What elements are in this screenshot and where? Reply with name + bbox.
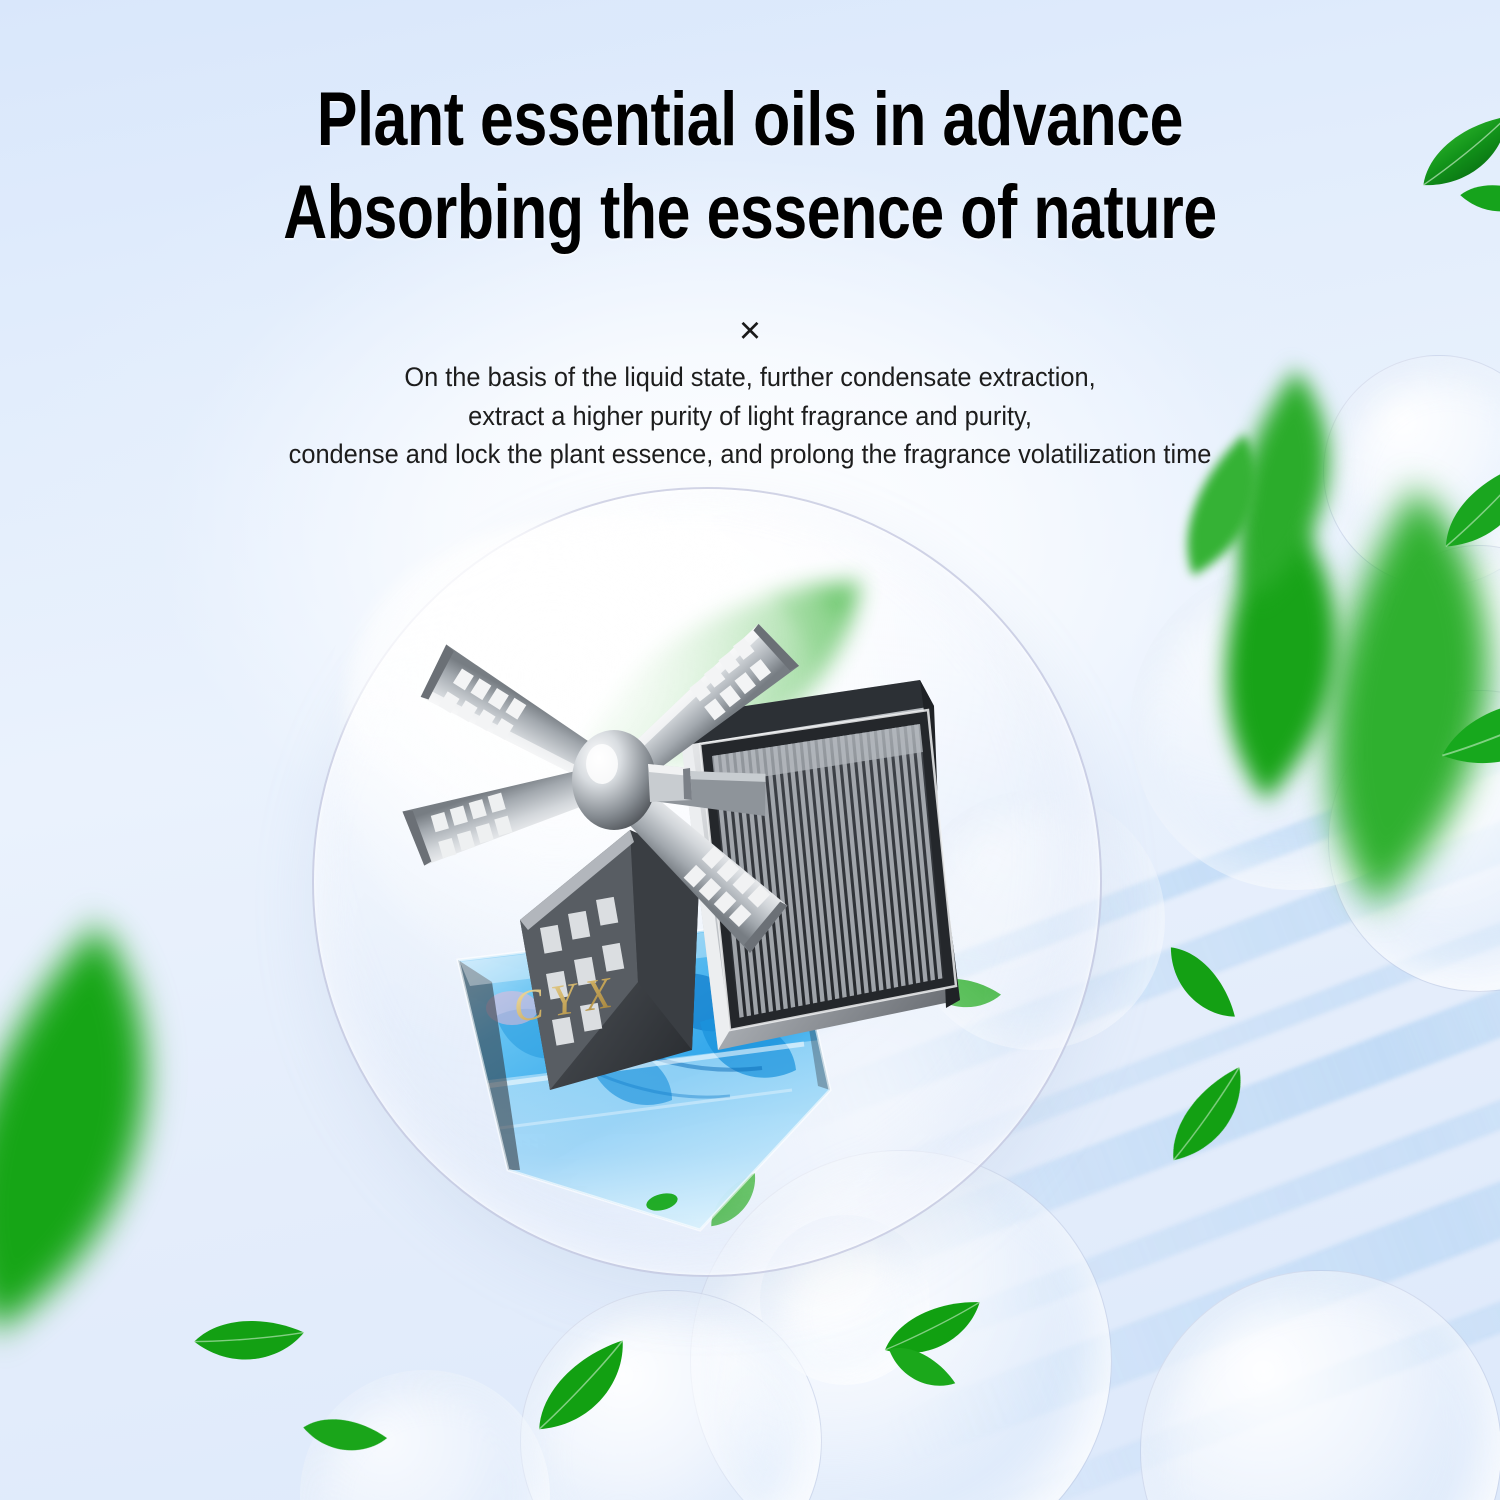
- leaf-icon: [186, 1305, 309, 1380]
- product-image: CYX: [400, 530, 1020, 1250]
- leaf-icon: [1145, 1058, 1274, 1180]
- leaf-icon: [295, 1400, 391, 1473]
- background-bubble: [1140, 1270, 1500, 1500]
- leaf-icon: [513, 1331, 654, 1451]
- leaf-icon: [874, 1294, 993, 1370]
- description-line-1: On the basis of the liquid state, furthe…: [45, 358, 1455, 397]
- leaf-icon: [1255, 473, 1500, 937]
- background-bubble: [1130, 560, 1460, 890]
- page-title: Plant essential oils in advance Absorbin…: [150, 74, 1350, 259]
- background-bubble: [1328, 690, 1500, 992]
- leaf-icon: [877, 1329, 960, 1409]
- divider-x-icon: ×: [0, 312, 1500, 350]
- leaf-icon: [1454, 170, 1500, 230]
- leaf-icon: [1405, 108, 1500, 204]
- windmill-diffuser-illustration: CYX: [400, 530, 1020, 1250]
- leaf-icon: [1431, 690, 1500, 784]
- headline-line-2: Absorbing the essence of nature: [150, 167, 1350, 260]
- product-banner: CYX Plant essential oils in advance Abso…: [0, 0, 1500, 1500]
- description-line-2: extract a higher purity of light fragran…: [45, 397, 1455, 436]
- background-bubble: [520, 1290, 822, 1500]
- background-bubble: [1373, 545, 1500, 757]
- leaf-icon: [1181, 491, 1399, 818]
- leaf-icon: [0, 902, 264, 1374]
- headline-line-1: Plant essential oils in advance: [150, 74, 1350, 167]
- description-line-3: condense and lock the plant essence, and…: [45, 435, 1455, 474]
- background-bubble: [300, 1370, 550, 1500]
- leaf-icon: [1154, 930, 1241, 1037]
- description-text: On the basis of the liquid state, furthe…: [45, 358, 1455, 474]
